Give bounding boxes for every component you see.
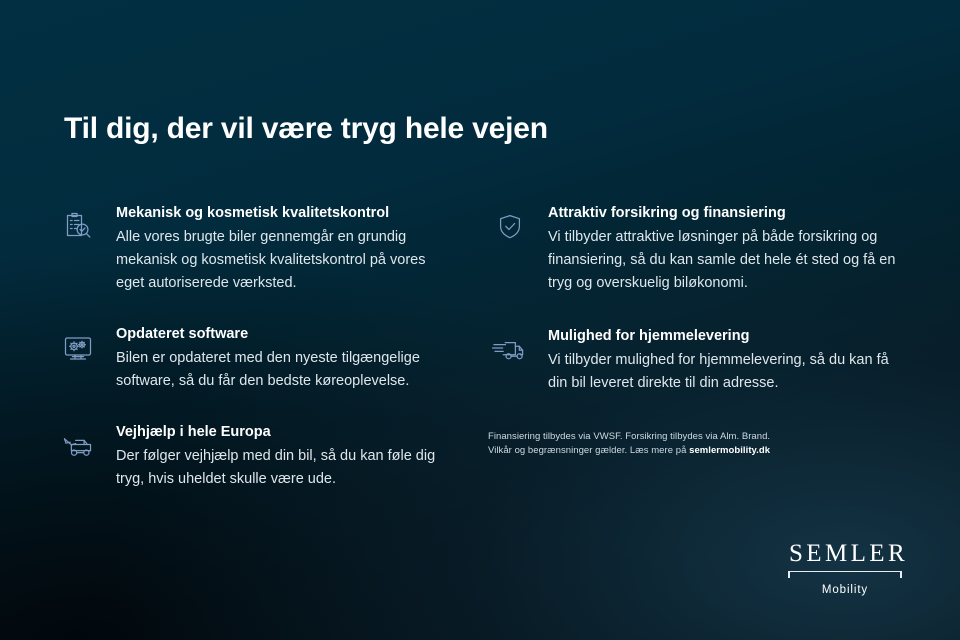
feature-body: Vi tilbyder mulighed for hjemmelevering,… [548, 349, 896, 395]
clipboard-check-magnifier-icon [58, 207, 98, 247]
slide-root: Til dig, der vil være tryg hele vejen [0, 0, 960, 640]
disclaimer-line-2: Vilkår og begrænsninger gælder. Læs mere… [488, 444, 788, 458]
page-title: Til dig, der vil være tryg hele vejen [64, 112, 548, 146]
feature-item: Attraktiv forsikring og finansiering Vi … [488, 203, 896, 295]
feature-body: Der følger vejhjælp med din bil, så du k… [116, 445, 456, 491]
shield-check-icon [490, 207, 530, 247]
disclaimer: Finansiering tilbydes via VWSF. Forsikri… [488, 430, 788, 458]
feature-item: Mulighed for hjemmelevering Vi tilbyder … [488, 326, 896, 395]
feature-body: Alle vores brugte biler gennemgår en gru… [116, 226, 456, 295]
feature-item: Opdateret software Bilen er opdateret me… [56, 324, 456, 393]
logo-subtitle: Mobility [786, 582, 904, 598]
disclaimer-website-link[interactable]: semlermobility.dk [689, 445, 770, 456]
feature-title: Mekanisk og kosmetisk kvalitetskontrol [116, 203, 456, 223]
disclaimer-line-2-prefix: Vilkår og begrænsninger gælder. Læs mere… [488, 445, 689, 456]
feature-title: Attraktiv forsikring og finansiering [548, 203, 896, 223]
feature-body: Vi tilbyder attraktive løsninger på både… [548, 226, 896, 295]
feature-body: Bilen er opdateret med den nyeste tilgæn… [116, 347, 456, 393]
feature-title: Mulighed for hjemmelevering [548, 326, 896, 346]
feature-item: Vejhjælp i hele Europa Der følger vejhjæ… [56, 422, 456, 491]
semler-mobility-logo: SEMLER Mobility [786, 540, 904, 598]
feature-item: Mekanisk og kosmetisk kvalitetskontrol A… [56, 203, 456, 295]
delivery-truck-icon [490, 330, 530, 370]
tow-truck-icon [58, 426, 98, 466]
logo-wordmark: SEMLER [786, 540, 904, 568]
disclaimer-line-1: Finansiering tilbydes via VWSF. Forsikri… [488, 430, 788, 444]
feature-title: Opdateret software [116, 324, 456, 344]
logo-rule-divider [788, 571, 902, 580]
feature-column-right: Attraktiv forsikring og finansiering Vi … [488, 203, 896, 448]
feature-column-left: Mekanisk og kosmetisk kvalitetskontrol A… [56, 203, 456, 516]
feature-title: Vejhjælp i hele Europa [116, 422, 456, 442]
monitor-gears-icon [58, 328, 98, 368]
